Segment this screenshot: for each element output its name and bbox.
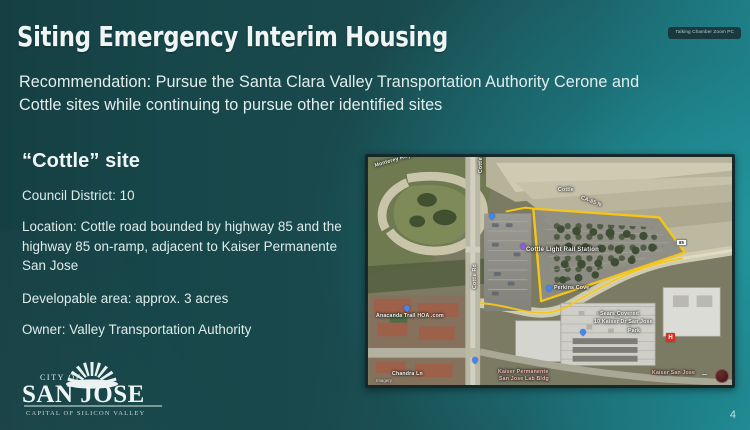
fact-council-district: Council District: 10 bbox=[22, 186, 352, 205]
site-heading: “Cottle” site bbox=[22, 150, 352, 173]
user-avatar[interactable] bbox=[715, 369, 729, 383]
svg-text:SAN JOSE: SAN JOSE bbox=[22, 381, 145, 408]
recommendation-subtitle: Recommendation: Pursue the Santa Clara V… bbox=[19, 71, 679, 117]
aerial-map[interactable]: Monterey Hwy / Blossom Hill Rd Cottle Rd… bbox=[365, 154, 735, 388]
svg-text:CAPITAL OF SILICON VALLEY: CAPITAL OF SILICON VALLEY bbox=[26, 410, 145, 417]
fact-location: Location: Cottle road bounded by highway… bbox=[22, 217, 352, 275]
page-number: 4 bbox=[730, 409, 736, 421]
presentation-slide: Talking Chamber Zoom PC Siting Emergency… bbox=[0, 0, 750, 430]
site-details-panel: “Cottle” site Council District: 10 Locat… bbox=[22, 150, 352, 352]
zoom-out-icon[interactable]: − bbox=[699, 370, 710, 381]
highway-shield-85: 85 bbox=[676, 239, 687, 246]
fact-owner: Owner: Valley Transportation Authority bbox=[22, 320, 352, 339]
map-pin-hospital[interactable]: H bbox=[666, 333, 675, 342]
map-imagery bbox=[368, 157, 732, 385]
city-of-san-jose-logo: CITY OF SAN JOSE CAPITAL OF SILICON VALL… bbox=[18, 354, 168, 418]
map-attribution: Imagery bbox=[376, 378, 392, 383]
fact-developable-area: Developable area: approx. 3 acres bbox=[22, 289, 352, 308]
page-title: Siting Emergency Interim Housing bbox=[17, 21, 448, 53]
header-meeting-badge: Talking Chamber Zoom PC bbox=[668, 27, 741, 39]
